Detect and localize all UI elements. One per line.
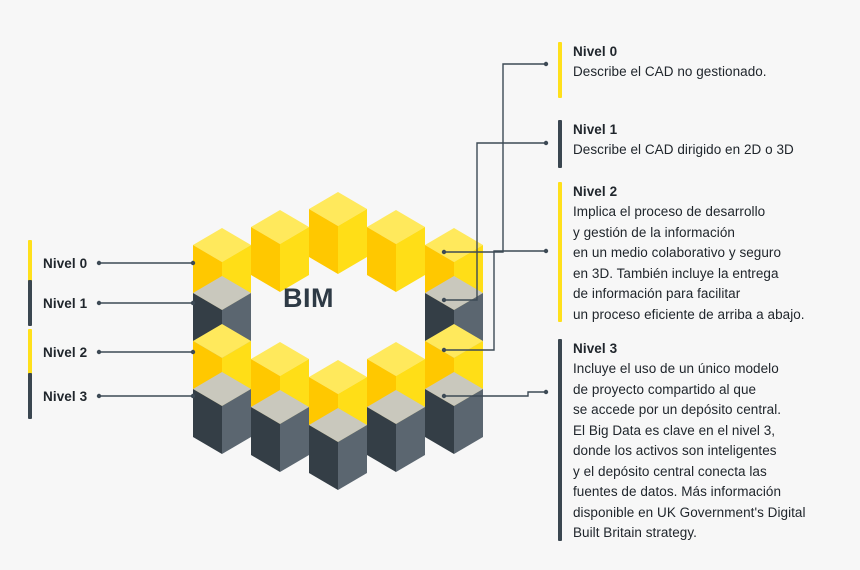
bim-center-label: BIM — [283, 283, 334, 314]
card-body: Nivel 2 Implica el proceso de desarrollo… — [573, 182, 805, 325]
left-label-text: Nivel 2 — [43, 345, 87, 360]
accent-bar — [28, 329, 32, 375]
card-body: Nivel 3 Incluye el uso de un único model… — [573, 339, 806, 544]
card-text: Implica el proceso de desarrollo y gesti… — [573, 202, 805, 325]
cube-row-bottom-cube-2 — [309, 408, 367, 490]
cube-row-bottom-cube-4 — [425, 372, 483, 454]
right-card-nivel-1[interactable]: Nivel 1 Describe el CAD dirigido en 2D o… — [558, 120, 794, 168]
left-label-nivel-1[interactable]: Nivel 1 — [28, 280, 87, 326]
cube-row-bottom-cube-1 — [251, 390, 309, 472]
left-label-nivel-2[interactable]: Nivel 2 — [28, 329, 87, 375]
right-card-nivel-2[interactable]: Nivel 2 Implica el proceso de desarrollo… — [558, 182, 805, 325]
card-text: Incluye el uso de un único modelo de pro… — [573, 359, 806, 544]
card-text: Describe el CAD no gestionado. — [573, 62, 767, 83]
cube-row-bottom-cube-3 — [367, 390, 425, 472]
cube-row-top-cube-2 — [309, 192, 367, 274]
card-text: Describe el CAD dirigido en 2D o 3D — [573, 140, 794, 161]
left-label-nivel-3[interactable]: Nivel 3 — [28, 373, 87, 419]
cube-row-bottom-cube-0 — [193, 372, 251, 454]
cube-row-top-cube-3 — [367, 210, 425, 292]
card-heading: Nivel 3 — [573, 339, 806, 359]
card-body: Nivel 1 Describe el CAD dirigido en 2D o… — [573, 120, 794, 168]
card-heading: Nivel 0 — [573, 42, 767, 62]
accent-bar — [558, 182, 562, 322]
left-label-text: Nivel 1 — [43, 296, 87, 311]
card-heading: Nivel 2 — [573, 182, 805, 202]
accent-bar — [558, 120, 562, 168]
left-label-text: Nivel 0 — [43, 256, 87, 271]
right-card-nivel-3[interactable]: Nivel 3 Incluye el uso de un único model… — [558, 339, 806, 544]
card-body: Nivel 0 Describe el CAD no gestionado. — [573, 42, 767, 98]
accent-bar — [28, 280, 32, 326]
card-heading: Nivel 1 — [573, 120, 794, 140]
left-label-text: Nivel 3 — [43, 389, 87, 404]
accent-bar — [558, 339, 562, 541]
cube-row-top-cube-1 — [251, 210, 309, 292]
accent-bar — [28, 373, 32, 419]
diagram-canvas: BIM Nivel 0 Nivel 1 Nivel 2 Nivel 3 Nive… — [0, 0, 860, 570]
right-card-nivel-0[interactable]: Nivel 0 Describe el CAD no gestionado. — [558, 42, 767, 98]
accent-bar — [558, 42, 562, 98]
